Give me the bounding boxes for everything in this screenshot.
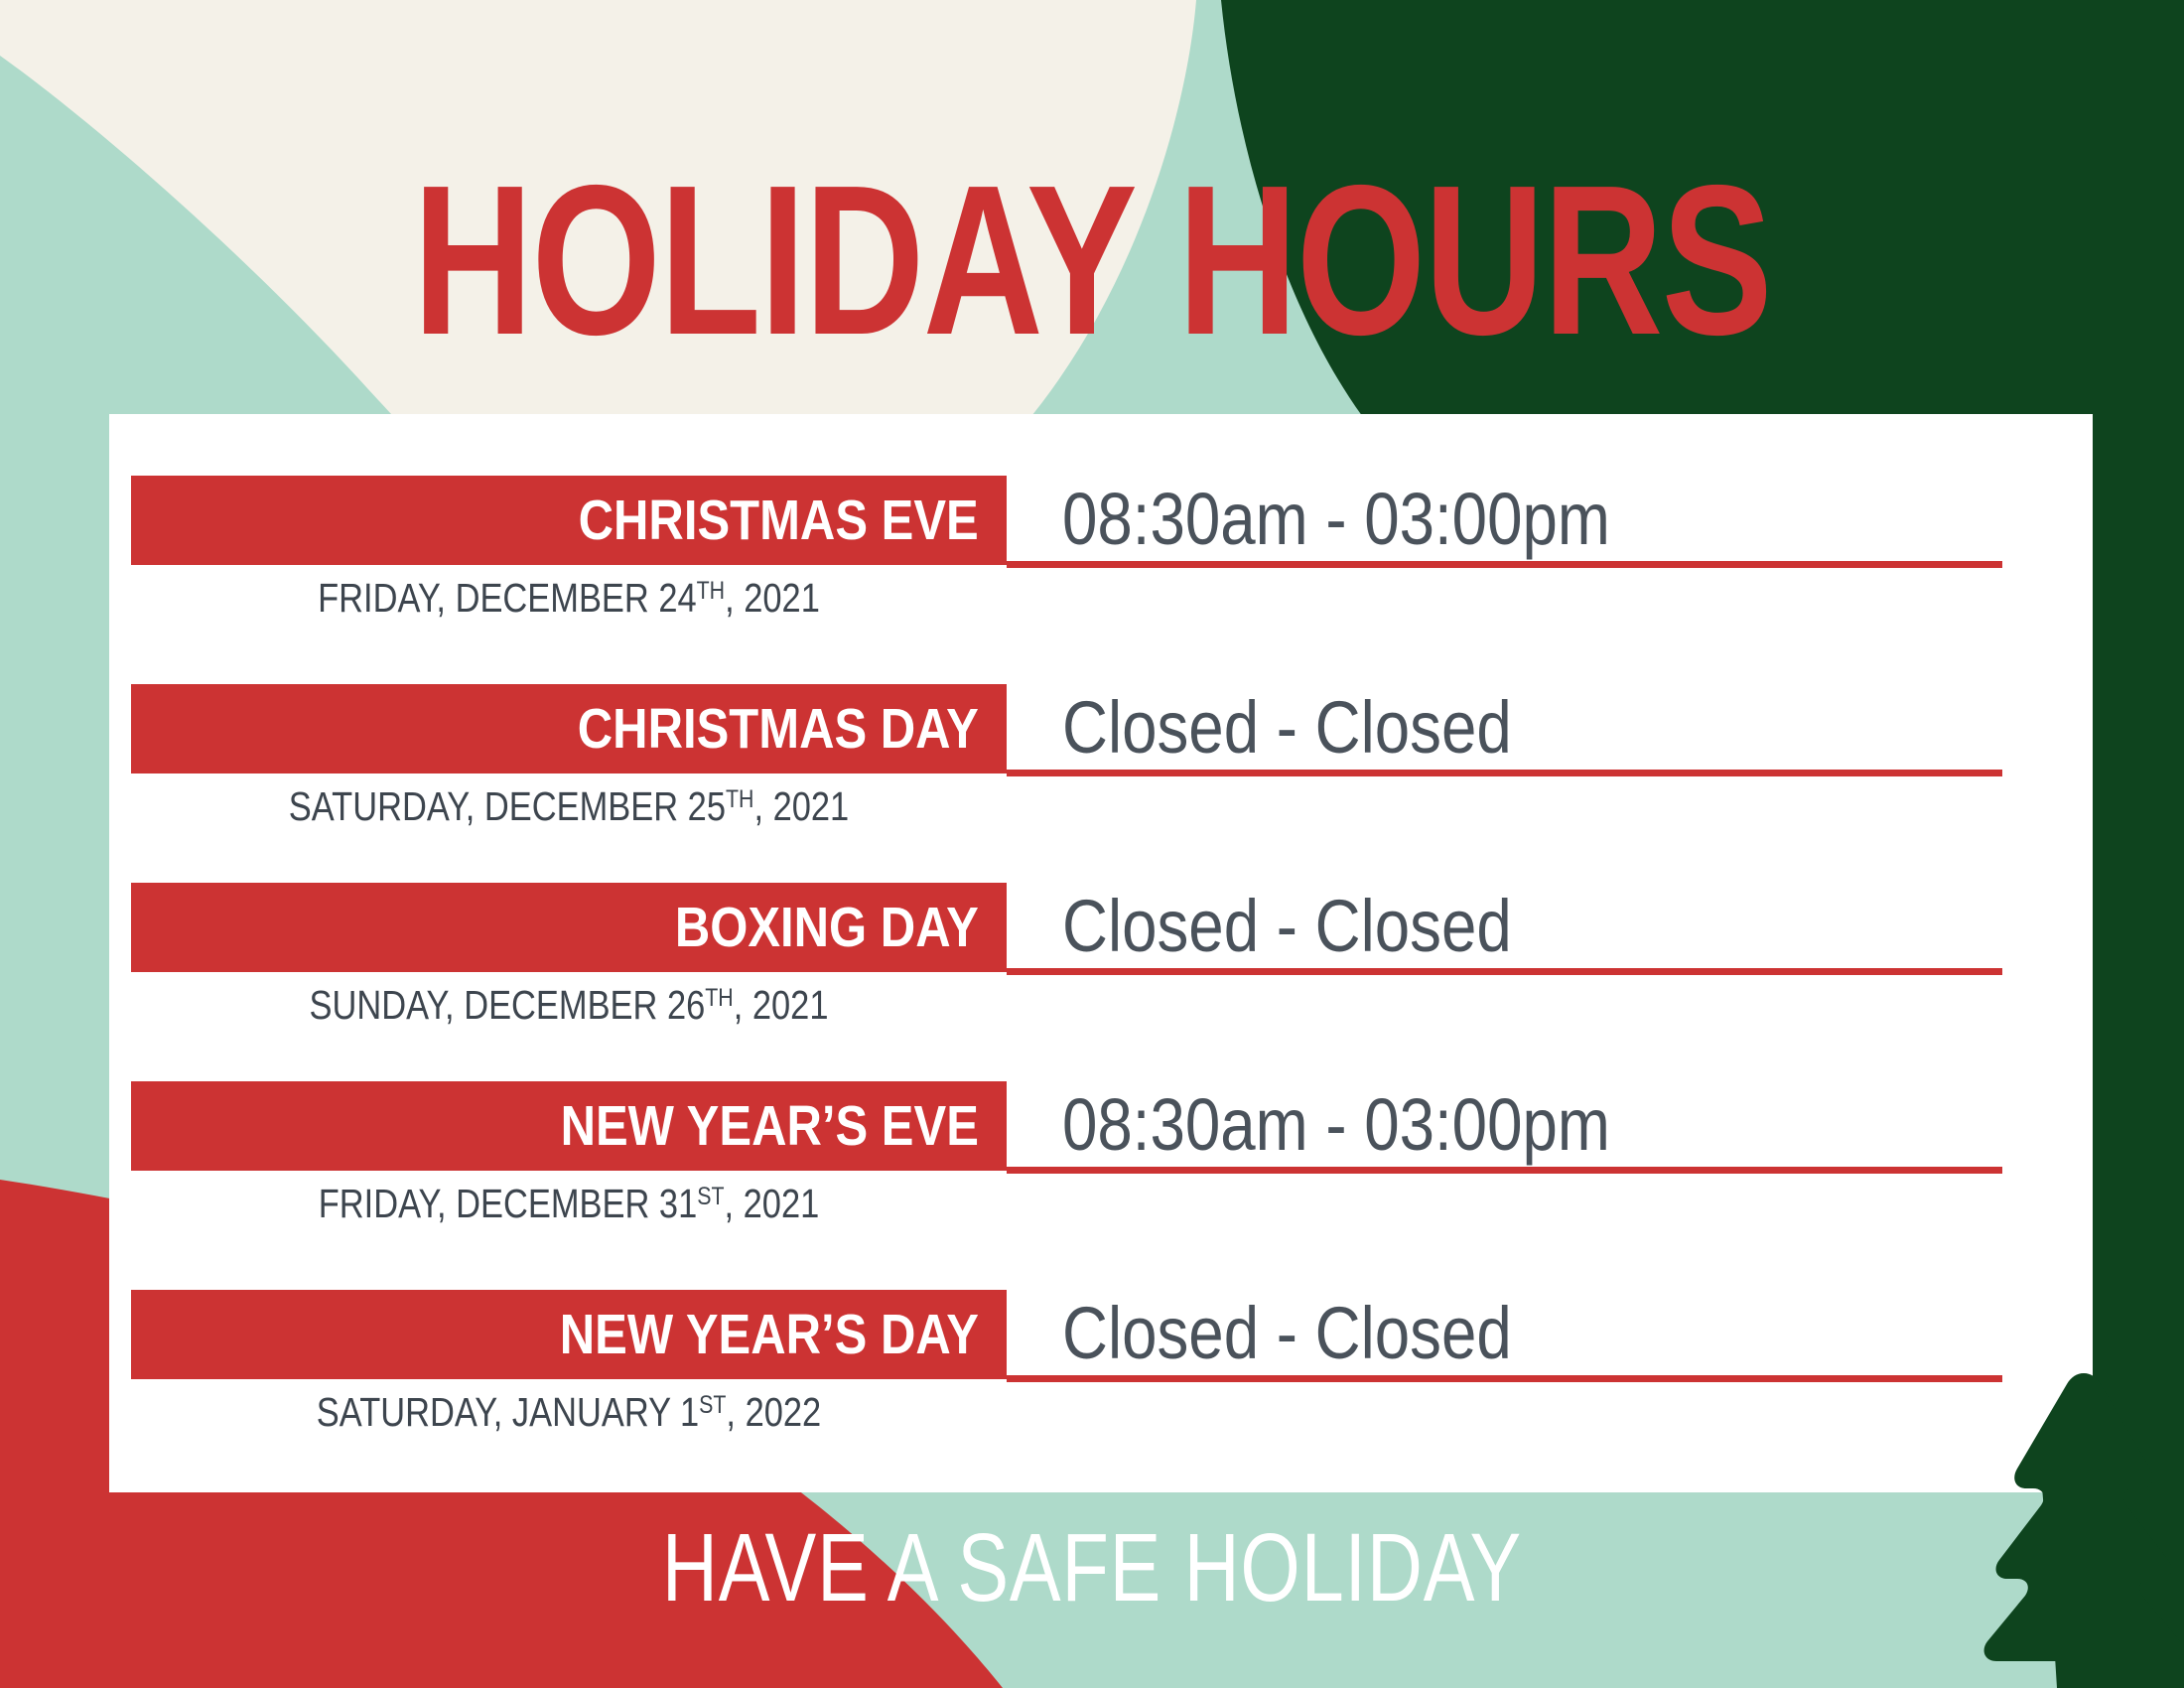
holiday-date-label: SATURDAY, DECEMBER 25TH, 2021 bbox=[202, 781, 937, 832]
holiday-name-bar: NEW YEAR’S EVE bbox=[131, 1081, 1007, 1171]
row-underline bbox=[1007, 1167, 2002, 1174]
holiday-hours-value: 08:30am - 03:00pm bbox=[1062, 1079, 1916, 1172]
row-underline bbox=[1007, 561, 2002, 568]
christmas-tree-icon bbox=[1976, 1365, 2184, 1688]
holiday-hours-value: Closed - Closed bbox=[1062, 1288, 1916, 1380]
holiday-hours-value: 08:30am - 03:00pm bbox=[1062, 474, 1916, 566]
row-underline bbox=[1007, 1375, 2002, 1382]
date-ordinal-suffix: TH bbox=[705, 984, 733, 1012]
holiday-name-label: NEW YEAR’S DAY bbox=[560, 1307, 979, 1363]
holiday-date-label: SUNDAY, DECEMBER 26TH, 2021 bbox=[202, 980, 937, 1031]
holiday-hours-poster: HOLIDAY HOURS CHRISTMAS EVE FRIDAY, DECE… bbox=[0, 0, 2184, 1688]
holiday-rows-list: CHRISTMAS EVE FRIDAY, DECEMBER 24TH, 202… bbox=[109, 414, 2093, 1492]
holiday-name-label: BOXING DAY bbox=[675, 900, 979, 956]
holiday-hours-value: Closed - Closed bbox=[1062, 682, 1916, 774]
holiday-name-bar: CHRISTMAS DAY bbox=[131, 684, 1007, 774]
holiday-name-label: CHRISTMAS DAY bbox=[578, 701, 979, 758]
date-ordinal-suffix: ST bbox=[699, 1391, 726, 1419]
holiday-name-bar: NEW YEAR’S DAY bbox=[131, 1290, 1007, 1379]
holiday-row: CHRISTMAS DAY SATURDAY, DECEMBER 25TH, 2… bbox=[109, 684, 2093, 883]
holiday-name-label: CHRISTMAS EVE bbox=[579, 492, 979, 549]
holiday-date-label: SATURDAY, JANUARY 1ST, 2022 bbox=[202, 1387, 937, 1438]
holiday-row: CHRISTMAS EVE FRIDAY, DECEMBER 24TH, 202… bbox=[109, 476, 2093, 674]
holiday-hours-value: Closed - Closed bbox=[1062, 881, 1916, 973]
holiday-name-bar: BOXING DAY bbox=[131, 883, 1007, 972]
holiday-row: NEW YEAR’S DAY SATURDAY, JANUARY 1ST, 20… bbox=[109, 1290, 2093, 1488]
date-ordinal-suffix: TH bbox=[726, 785, 753, 813]
row-underline bbox=[1007, 770, 2002, 776]
date-ordinal-suffix: ST bbox=[697, 1183, 724, 1210]
row-underline bbox=[1007, 968, 2002, 975]
footer-caption: HAVE A SAFE HOLIDAY bbox=[218, 1519, 1966, 1616]
holiday-row: NEW YEAR’S EVE FRIDAY, DECEMBER 31ST, 20… bbox=[109, 1081, 2093, 1280]
holiday-name-bar: CHRISTMAS EVE bbox=[131, 476, 1007, 565]
holiday-row: BOXING DAY SUNDAY, DECEMBER 26TH, 2021 C… bbox=[109, 883, 2093, 1081]
holiday-date-label: FRIDAY, DECEMBER 24TH, 2021 bbox=[202, 573, 937, 624]
holiday-date-label: FRIDAY, DECEMBER 31ST, 2021 bbox=[202, 1179, 937, 1229]
page-title: HOLIDAY HOURS bbox=[240, 159, 1944, 361]
holiday-name-label: NEW YEAR’S EVE bbox=[561, 1098, 979, 1155]
date-ordinal-suffix: TH bbox=[697, 577, 725, 605]
